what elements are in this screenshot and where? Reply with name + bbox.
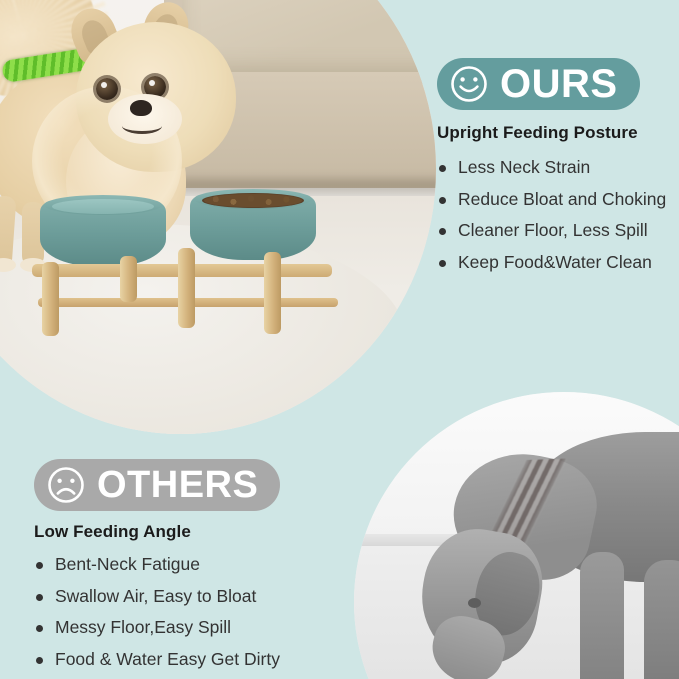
list-item: Messy Floor,Easy Spill (34, 619, 334, 637)
dog-nose (130, 100, 152, 116)
bamboo-stand-leg (178, 248, 195, 328)
ours-comparison-block: OURS Upright Feeding Posture Less Neck S… (437, 58, 673, 285)
elevated-bowl-set (32, 180, 332, 340)
bamboo-stand-leg (264, 252, 281, 334)
water-bowl (40, 202, 166, 266)
ours-badge-label: OURS (500, 64, 618, 104)
kibble (204, 194, 302, 207)
ours-subtitle: Upright Feeding Posture (437, 123, 673, 143)
others-drawback-list: Bent-Neck Fatigue Swallow Air, Easy to B… (34, 556, 334, 668)
bamboo-stand-leg (42, 262, 59, 336)
dog-hind-leg (644, 560, 679, 679)
large-dog-bending-to-floor-bowl-photo (354, 392, 679, 679)
ours-benefit-list: Less Neck Strain Reduce Bloat and Chokin… (437, 159, 673, 271)
smiley-face-icon (449, 64, 489, 104)
others-subtitle: Low Feeding Angle (34, 522, 334, 542)
list-item: Reduce Bloat and Choking (437, 191, 673, 209)
others-badge: OTHERS (34, 459, 280, 511)
dog-eye-left (96, 78, 118, 100)
infographic-canvas: OURS Upright Feeding Posture Less Neck S… (0, 0, 679, 679)
dog-paw (0, 258, 16, 272)
others-badge-label: OTHERS (97, 466, 258, 504)
list-item: Food & Water Easy Get Dirty (34, 651, 334, 669)
list-item: Swallow Air, Easy to Bloat (34, 588, 334, 606)
food-bowl (190, 196, 316, 260)
ours-badge: OURS (437, 58, 640, 110)
bowl-water (52, 199, 154, 214)
bamboo-stand-leg (120, 256, 137, 302)
sad-face-icon (46, 465, 86, 505)
list-item: Bent-Neck Fatigue (34, 556, 334, 574)
others-comparison-block: OTHERS Low Feeding Angle Bent-Neck Fatig… (34, 459, 334, 679)
list-item: Cleaner Floor, Less Spill (437, 222, 673, 240)
list-item: Keep Food&Water Clean (437, 254, 673, 272)
dog-eye (468, 598, 481, 608)
dog-mouth (122, 118, 162, 134)
list-item: Less Neck Strain (437, 159, 673, 177)
pomeranian-with-elevated-bowls-photo (0, 0, 436, 434)
large-grey-dog (380, 402, 679, 679)
